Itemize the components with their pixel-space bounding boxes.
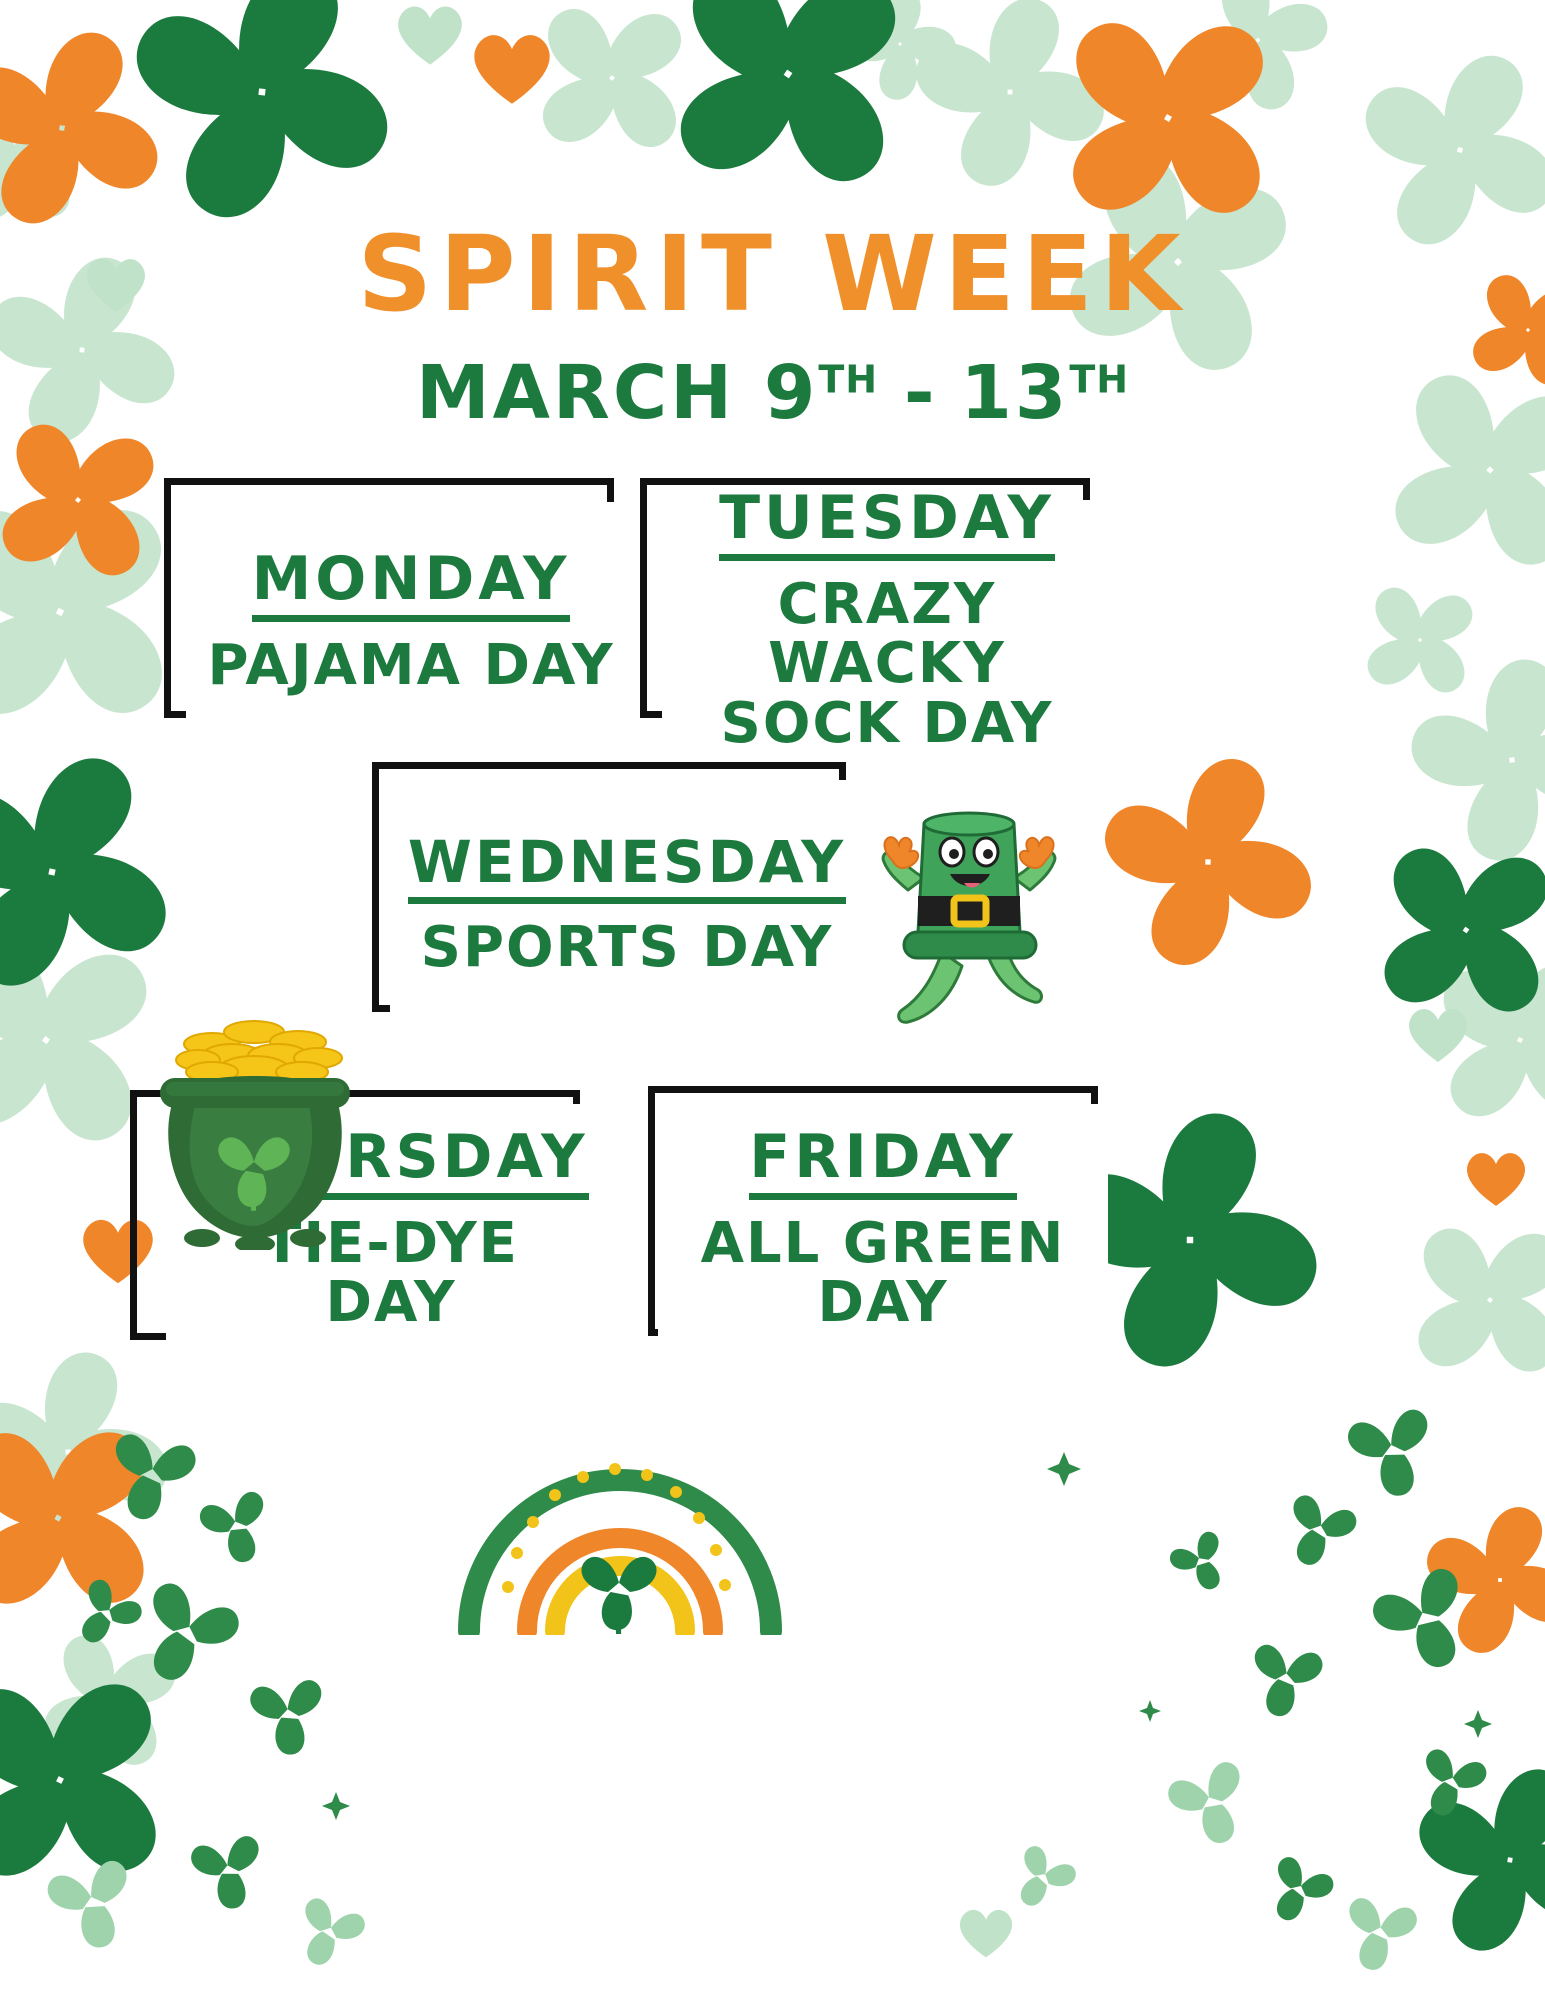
day-card-tuesday[interactable]: TUESDAY CRAZY WACKY SOCK DAY bbox=[640, 478, 1090, 718]
date-ordinal-first: TH bbox=[818, 357, 878, 401]
day-activity-tuesday: CRAZY WACKY SOCK DAY bbox=[672, 575, 1102, 753]
day-name-wednesday: WEDNESDAY bbox=[408, 832, 846, 904]
card-body: FRIDAY ALL GREEN DAY bbox=[658, 1104, 1108, 1354]
date-second: 13 bbox=[960, 350, 1069, 436]
day-card-wednesday[interactable]: WEDNESDAY SPORTS DAY bbox=[372, 762, 846, 1012]
card-body: MONDAY PAJAMA DAY bbox=[186, 502, 636, 742]
pot-of-gold-icon bbox=[150, 1000, 360, 1250]
leprechaun-hat-mascot-icon bbox=[862, 780, 1077, 1025]
date-dash: - bbox=[878, 350, 960, 436]
day-activity-monday: PAJAMA DAY bbox=[208, 636, 615, 695]
day-activity-wednesday: SPORTS DAY bbox=[421, 918, 834, 977]
rainbow-shamrock-icon bbox=[455, 1365, 785, 1635]
day-name-monday: MONDAY bbox=[252, 548, 571, 622]
card-body: TUESDAY CRAZY WACKY SOCK DAY bbox=[662, 500, 1112, 740]
date-prefix: MARCH 9 bbox=[416, 350, 818, 436]
day-card-monday[interactable]: MONDAY PAJAMA DAY bbox=[164, 478, 614, 718]
date-range: MARCH 9TH - 13TH bbox=[0, 356, 1545, 430]
date-ordinal-second: TH bbox=[1069, 357, 1129, 401]
day-name-tuesday: TUESDAY bbox=[719, 487, 1055, 561]
card-body: WEDNESDAY SPORTS DAY bbox=[390, 780, 864, 1030]
day-name-friday: FRIDAY bbox=[749, 1126, 1016, 1200]
day-card-friday[interactable]: FRIDAY ALL GREEN DAY bbox=[648, 1086, 1098, 1336]
day-activity-friday: ALL GREEN DAY bbox=[701, 1214, 1066, 1333]
page-title: SPIRIT WEEK bbox=[0, 222, 1545, 326]
